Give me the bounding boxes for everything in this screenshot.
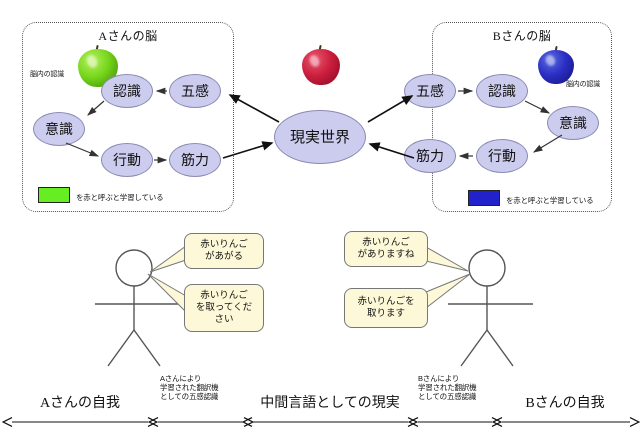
arrow-world-to-b-gokan: [368, 96, 412, 122]
arrow-b-kinryoku-to-world: [370, 144, 414, 158]
range-label-interlingua: 中間言語としての現実: [252, 392, 408, 412]
range-label-self-b: Bさんの自我: [500, 392, 630, 412]
speech-bubble-a-2: 赤いりんごを取ってください: [184, 284, 264, 332]
arrow-a-ninshiki-to-ishiki: [88, 101, 104, 115]
figure-leg-left: [461, 330, 487, 366]
range-label-translator-a: Aさんにより学習された翻訳機としての五感認識: [160, 374, 250, 401]
figure-leg-right: [134, 330, 160, 366]
speech-bubble-b-1: 赤いりんごがありますね: [344, 231, 428, 267]
arrow-a-kinryoku-to-world: [223, 143, 272, 158]
speech-bubble-b-2: 赤いりんごを取ります: [344, 288, 428, 328]
bubble-tail-a2: [148, 274, 186, 312]
arrows-and-figures-layer: [0, 0, 640, 436]
bubble-tail-b1: [426, 247, 468, 271]
brain-b-arrows: [458, 91, 562, 156]
range-label-translator-b: Bさんにより学習された翻訳機としての五感認識: [418, 374, 508, 401]
bubble-tail-b2: [426, 274, 470, 308]
arrow-a-ishiki-to-kodo: [66, 143, 98, 156]
diagram-canvas: Aさんの脳 脳内の認識 を赤と呼ぶと学習している 認識 五感 意識 行動 筋力 …: [0, 0, 640, 436]
arrow-world-to-a-gokan: [230, 95, 279, 122]
figure-leg-right: [487, 330, 513, 366]
brain-a-arrows: [66, 91, 167, 160]
stick-figure-person-a: [95, 250, 180, 366]
figure-head: [469, 250, 505, 286]
speech-bubble-a-1: 赤いりんごがあがる: [184, 233, 264, 269]
figure-head: [116, 250, 152, 286]
figure-leg-left: [108, 330, 134, 366]
world-link-arrows: [223, 95, 414, 158]
arrow-b-ishiki-to-kodo: [534, 135, 562, 152]
arrow-b-ninshiki-to-ishiki: [525, 101, 549, 113]
range-label-self-a: Aさんの自我: [12, 392, 148, 412]
bubble-tail-a1: [150, 246, 186, 272]
